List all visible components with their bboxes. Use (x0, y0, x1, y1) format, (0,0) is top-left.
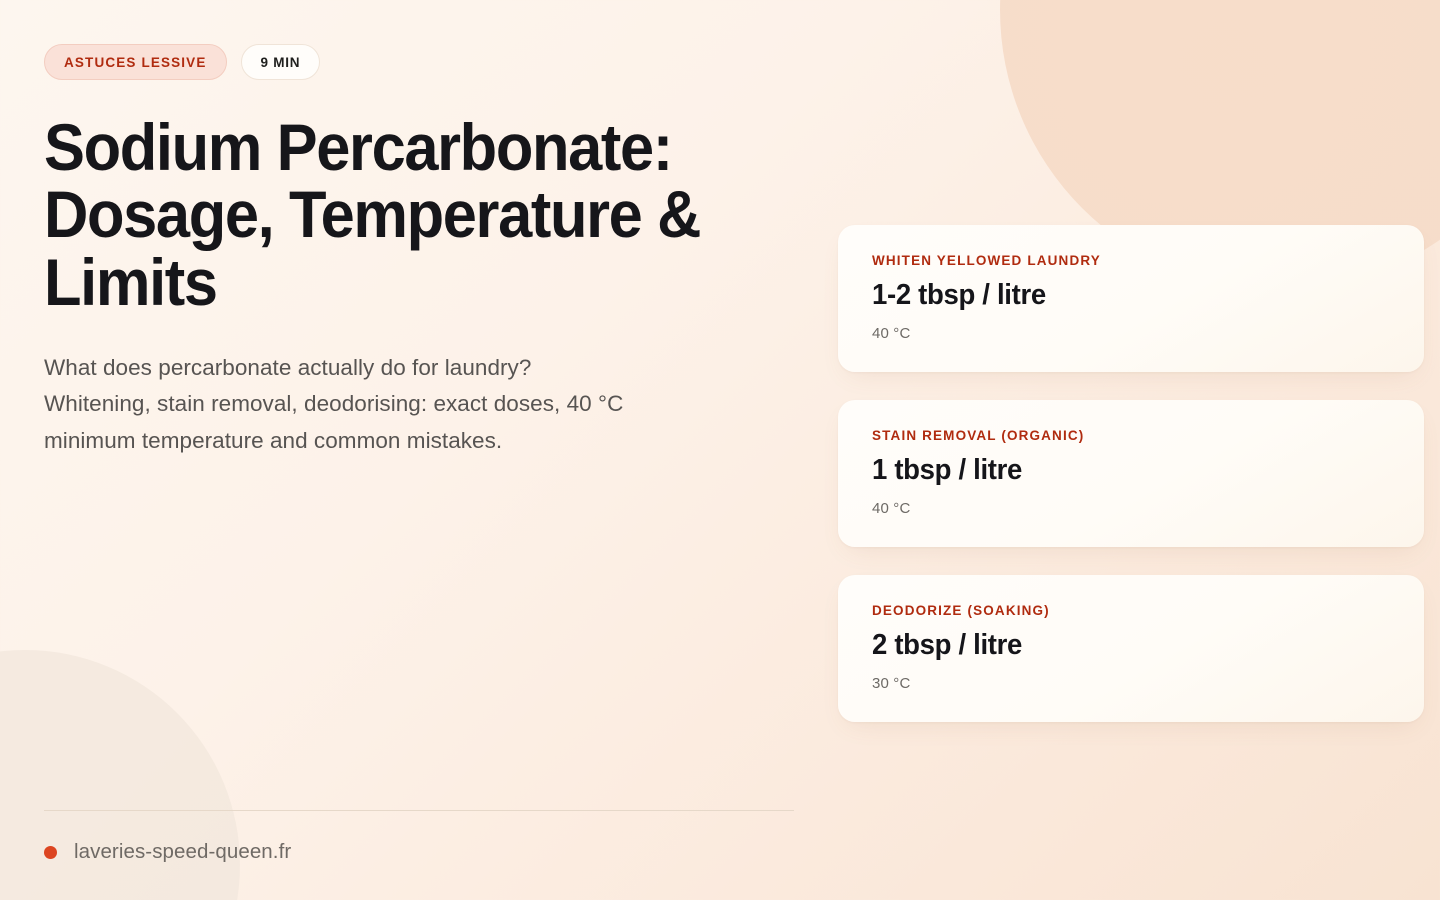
dosage-card-value: 1-2 tbsp / litre (872, 279, 1364, 312)
dosage-card-list: WHITEN YELLOWED LAUNDRY 1-2 tbsp / litre… (838, 44, 1424, 900)
read-time-badge: 9 MIN (241, 44, 321, 80)
article-left-column: ASTUCES LESSIVE 9 MIN Sodium Percarbonat… (44, 44, 838, 900)
dosage-card-temperature: 40 °C (872, 325, 1390, 342)
article-subtitle: What does percarbonate actually do for l… (44, 350, 624, 459)
badge-row: ASTUCES LESSIVE 9 MIN (44, 44, 798, 80)
dosage-card-temperature: 30 °C (872, 675, 1390, 692)
footer-divider (44, 810, 794, 811)
footer: laveries-speed-queen.fr (44, 810, 794, 900)
dosage-card-label: WHITEN YELLOWED LAUNDRY (872, 253, 1390, 268)
page-title: Sodium Percarbonate: Dosage, Temperature… (44, 114, 745, 316)
category-badge[interactable]: ASTUCES LESSIVE (44, 44, 227, 80)
dosage-card-label: DEODORIZE (SOAKING) (872, 603, 1390, 618)
article-hero-page: ASTUCES LESSIVE 9 MIN Sodium Percarbonat… (0, 0, 1440, 900)
site-domain-label: laveries-speed-queen.fr (74, 840, 291, 864)
dosage-card[interactable]: DEODORIZE (SOAKING) 2 tbsp / litre 30 °C (838, 575, 1424, 722)
dosage-card-value: 2 tbsp / litre (872, 629, 1364, 662)
dosage-card-temperature: 40 °C (872, 500, 1390, 517)
dosage-card[interactable]: STAIN REMOVAL (ORGANIC) 1 tbsp / litre 4… (838, 400, 1424, 547)
bullet-dot-icon (44, 846, 57, 859)
footer-brand-row: laveries-speed-queen.fr (44, 840, 794, 864)
dosage-card-label: STAIN REMOVAL (ORGANIC) (872, 428, 1390, 443)
dosage-card-value: 1 tbsp / litre (872, 454, 1364, 487)
dosage-card[interactable]: WHITEN YELLOWED LAUNDRY 1-2 tbsp / litre… (838, 225, 1424, 372)
